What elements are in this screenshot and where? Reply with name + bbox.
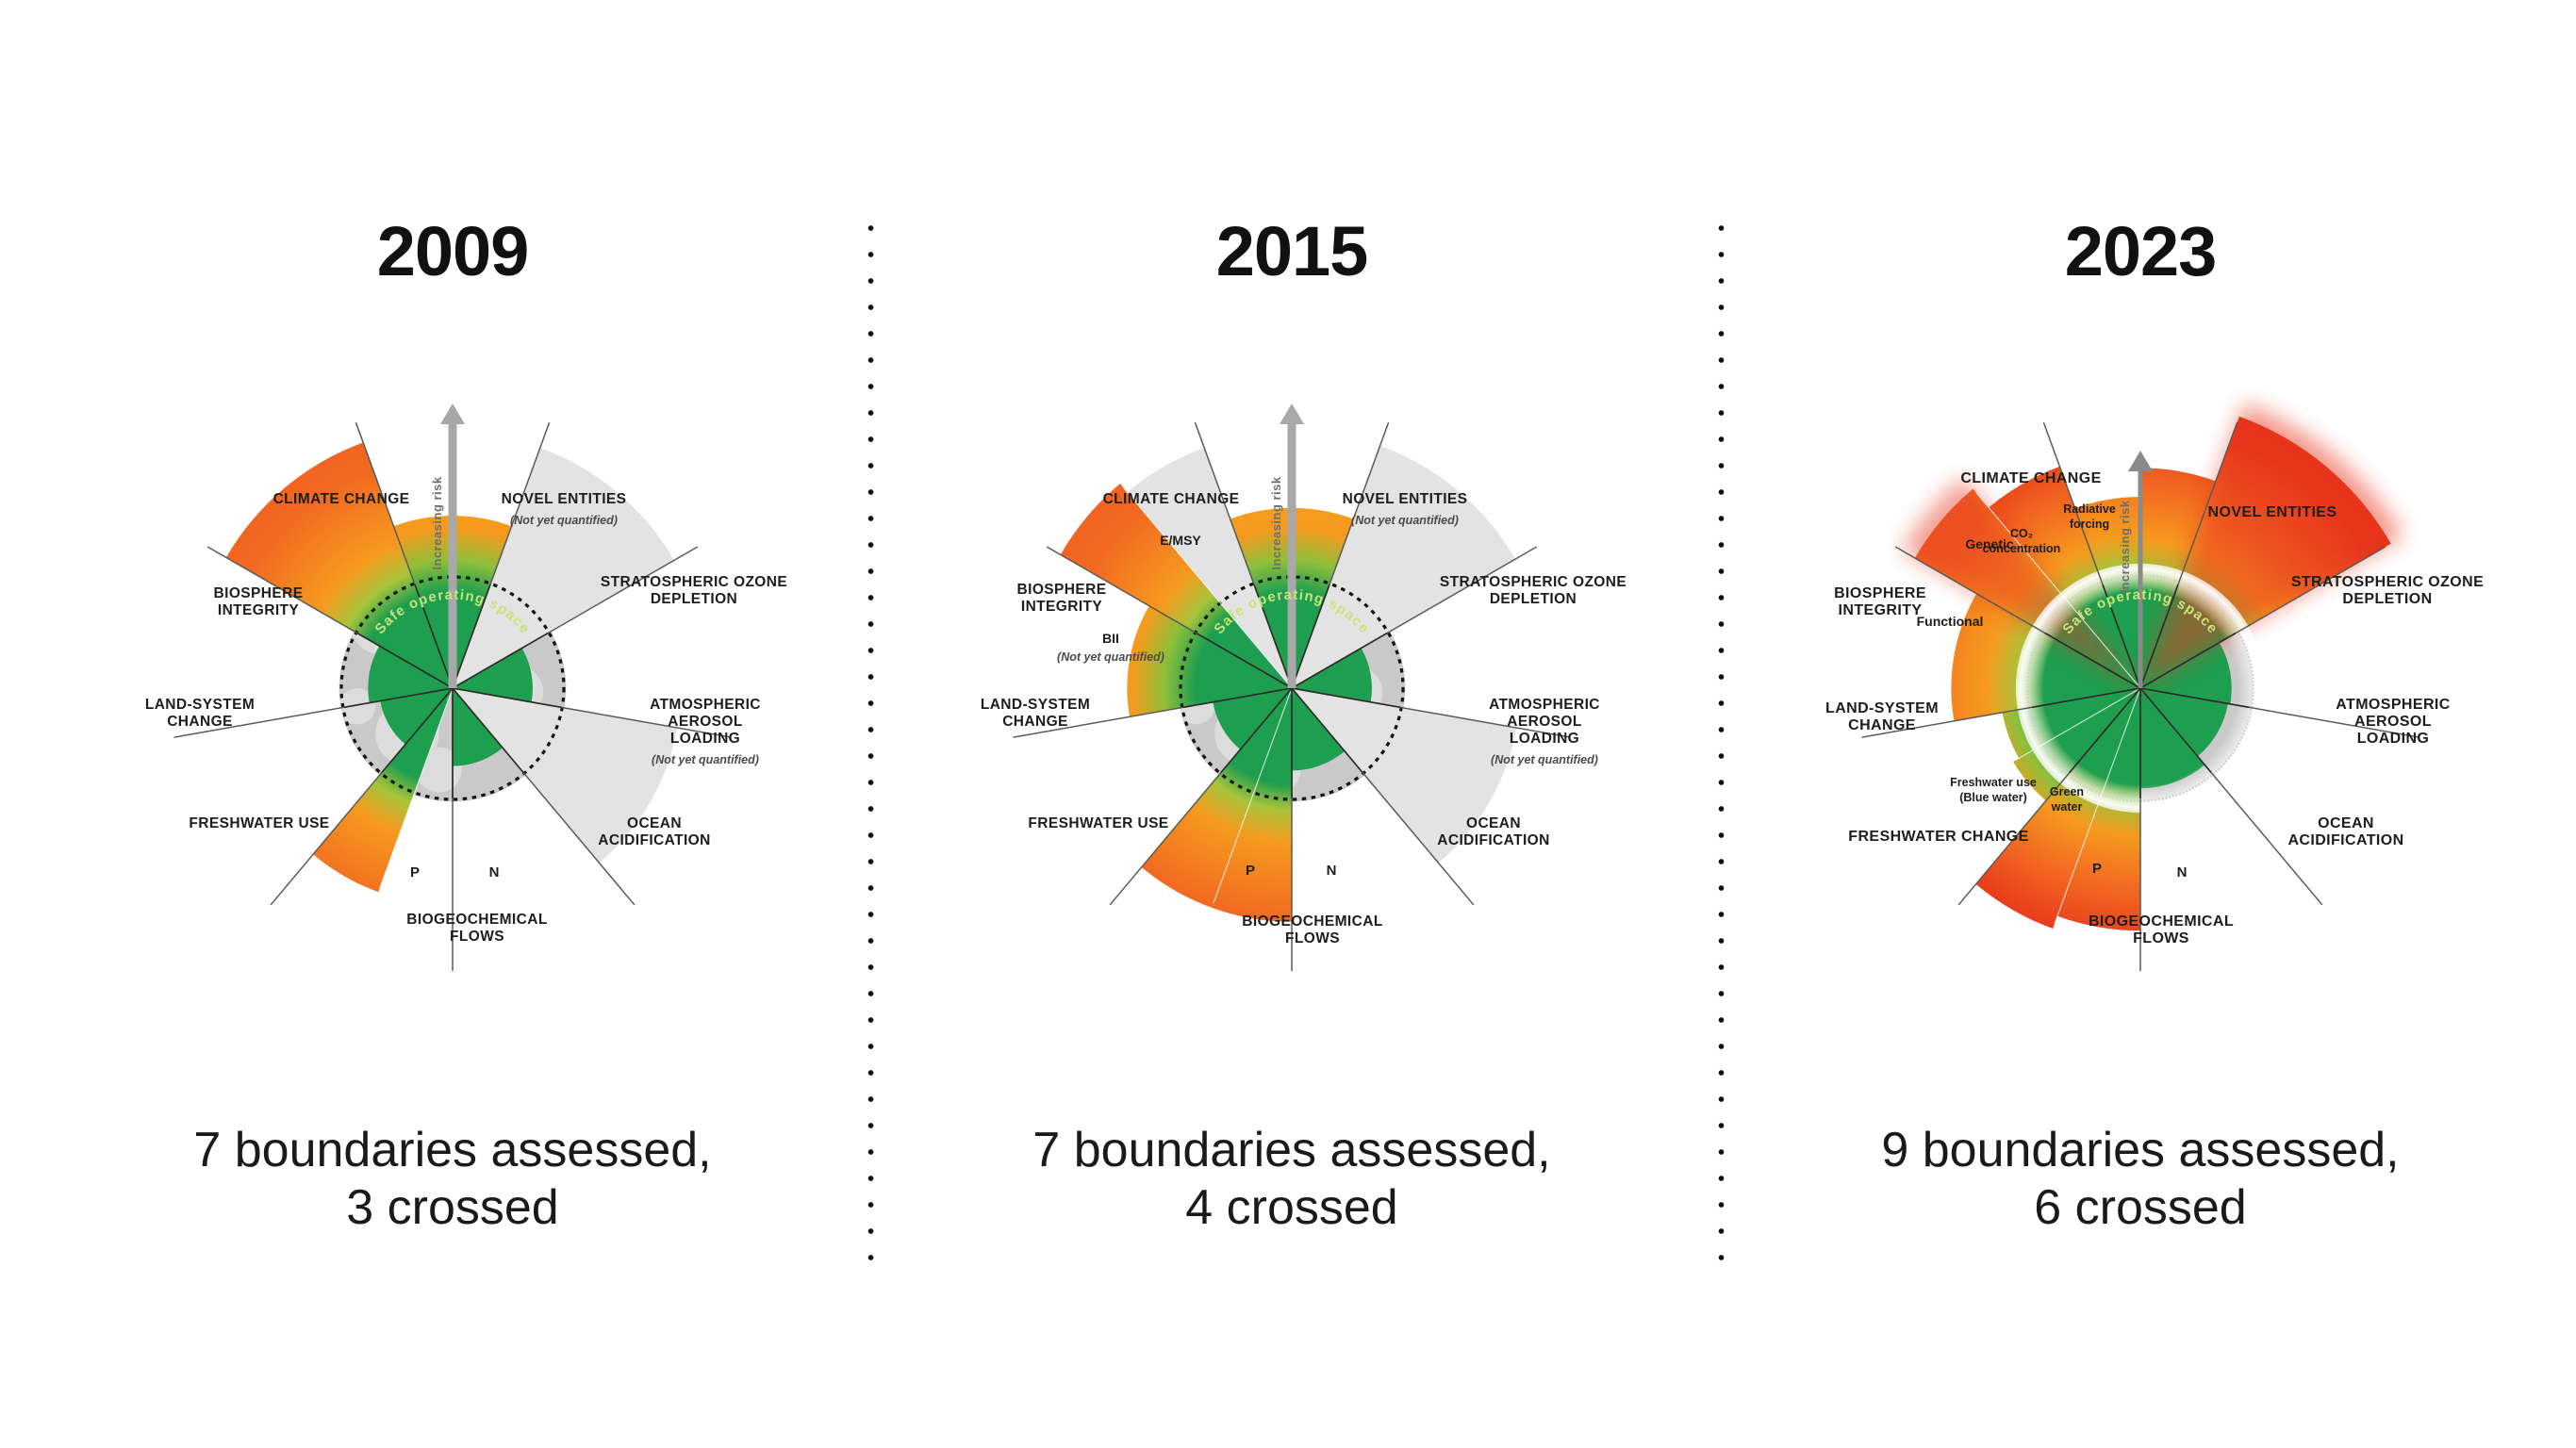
caption-line-1: 7 boundaries assessed, xyxy=(877,1122,1707,1179)
arrow-head xyxy=(440,403,465,424)
boundary-label: STRATOSPHERIC OZONEDEPLETION xyxy=(601,574,787,607)
boundary-note: (Not yet quantified) xyxy=(1491,753,1598,766)
boundary-label: CLIMATE CHANGE xyxy=(273,491,410,507)
boundary-wheel: Increasing riskSafe operating spaceCLIMA… xyxy=(1726,311,2555,1065)
panel-divider-1 xyxy=(867,215,874,1271)
panel-caption: 9 boundaries assessed, 6 crossed xyxy=(1726,1122,2555,1238)
panel-2015: 2015 Increasing riskSafe operating space… xyxy=(877,0,1707,1448)
panel-title: 2023 xyxy=(1726,217,2555,287)
boundary-label: BIOGEOCHEMICALFLOWS xyxy=(1242,913,1382,946)
boundary-sublabel: BII xyxy=(1102,631,1119,646)
boundary-label: OCEANACIDIFICATION xyxy=(2287,815,2403,848)
boundary-sublabel: P xyxy=(2092,861,2102,877)
boundary-label: BIOGEOCHEMICALFLOWS xyxy=(406,912,547,945)
arrow-head xyxy=(2128,451,2153,471)
boundary-sublabel: N xyxy=(2177,864,2188,880)
boundary-sublabel: N xyxy=(1327,863,1337,879)
boundary-label: STRATOSPHERIC OZONEDEPLETION xyxy=(1440,574,1627,607)
boundary-label: LAND-SYSTEMCHANGE xyxy=(145,697,255,730)
panel-2009: 2009 Increasing riskSafe operating space… xyxy=(38,0,867,1448)
caption-line-2: 3 crossed xyxy=(38,1179,867,1237)
boundary-note: (Not yet quantified) xyxy=(510,514,618,527)
caption-line-1: 7 boundaries assessed, xyxy=(38,1122,867,1179)
boundary-label: CLIMATE CHANGE xyxy=(1103,491,1240,507)
caption-line-1: 9 boundaries assessed, xyxy=(1726,1122,2555,1179)
boundary-label: FRESHWATER CHANGE xyxy=(1848,829,2028,845)
panel-title: 2015 xyxy=(877,217,1707,287)
panel-caption: 7 boundaries assessed, 3 crossed xyxy=(38,1122,867,1238)
boundary-label: NOVEL ENTITIES xyxy=(2208,504,2337,520)
boundary-wheel: Increasing riskSafe operating spaceCLIMA… xyxy=(38,311,867,1065)
boundary-label: ATMOSPHERICAEROSOLLOADING xyxy=(2336,697,2450,747)
panel-divider-2 xyxy=(1718,215,1725,1271)
boundary-label: BIOSPHEREINTEGRITY xyxy=(214,585,304,618)
boundary-label: BIOGEOCHEMICALFLOWS xyxy=(2089,913,2234,946)
boundary-label: NOVEL ENTITIES xyxy=(1343,491,1468,507)
panel-caption: 7 boundaries assessed, 4 crossed xyxy=(877,1122,1707,1238)
boundary-sublabel: Genetic xyxy=(1965,536,2014,551)
panel-2023: 2023 Increasing riskSafe operating space… xyxy=(1726,0,2555,1448)
increasing-risk-label: Increasing risk xyxy=(2118,500,2132,594)
increasing-risk-label: Increasing risk xyxy=(430,476,444,570)
boundary-label: BIOSPHEREINTEGRITY xyxy=(1834,585,1926,618)
increasing-risk-label: Increasing risk xyxy=(1269,476,1283,570)
boundary-sublabel: Functional xyxy=(1917,614,1984,629)
boundary-label: FRESHWATER USE xyxy=(1028,815,1168,831)
boundary-label: CLIMATE CHANGE xyxy=(1960,470,2101,486)
boundary-label: LAND-SYSTEMCHANGE xyxy=(1825,700,1939,733)
caption-line-2: 6 crossed xyxy=(1726,1179,2555,1237)
boundary-sublabel: Freshwater use(Blue water) xyxy=(1950,776,2037,804)
boundary-sublabel: N xyxy=(489,864,500,880)
boundary-note: (Not yet quantified) xyxy=(1351,514,1459,527)
boundary-label: BIOSPHEREINTEGRITY xyxy=(1017,582,1107,615)
boundary-label: LAND-SYSTEMCHANGE xyxy=(981,697,1090,730)
boundary-sublabel: E/MSY xyxy=(1160,533,1201,548)
arrow-head xyxy=(1280,403,1304,424)
boundary-sublabel: P xyxy=(410,864,420,880)
boundary-note: (Not yet quantified) xyxy=(652,753,759,766)
boundary-label: STRATOSPHERIC OZONEDEPLETION xyxy=(2291,574,2484,607)
panel-title: 2009 xyxy=(38,217,867,287)
boundary-label: NOVEL ENTITIES xyxy=(502,491,627,507)
boundary-label: FRESHWATER USE xyxy=(189,815,329,831)
planetary-boundaries-figure: 2009 Increasing riskSafe operating space… xyxy=(0,0,2576,1448)
boundary-subnote: (Not yet quantified) xyxy=(1057,650,1164,664)
boundary-sublabel: P xyxy=(1246,863,1255,879)
boundary-wheel: Increasing riskSafe operating spaceCLIMA… xyxy=(877,311,1707,1065)
caption-line-2: 4 crossed xyxy=(877,1179,1707,1237)
